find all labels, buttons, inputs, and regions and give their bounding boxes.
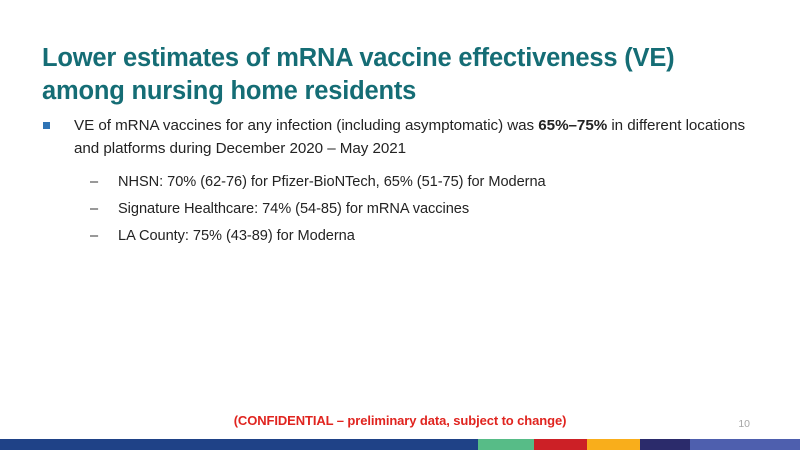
dash-bullet-icon: – (90, 223, 98, 250)
color-bar-segment-dark-blue (0, 439, 478, 450)
bullet-text-bold-range: 65%–75% (538, 117, 607, 134)
list-item: – NHSN: 70% (62-76) for Pfizer-BioNTech,… (40, 169, 760, 196)
sub-bullet-list: – NHSN: 70% (62-76) for Pfizer-BioNTech,… (40, 169, 760, 250)
color-bar-segment-orange (587, 439, 640, 450)
color-bar-segment-navy (640, 439, 690, 450)
slide: Lower estimates of mRNA vaccine effectiv… (0, 0, 800, 450)
sub-bullet-label-nhsn: NHSN: 70% (62-76) for Pfizer-BioNTech, 6… (118, 174, 546, 190)
sub-bullet-label-la-county: LA County: 75% (43-89) for Moderna (118, 228, 355, 244)
color-bar-segment-green (478, 439, 533, 450)
bullet-item-primary: VE of mRNA vaccines for any infection (i… (40, 114, 760, 160)
confidential-notice: (CONFIDENTIAL – preliminary data, subjec… (0, 413, 800, 428)
color-bar-segment-slate-blue (690, 439, 800, 450)
dash-bullet-icon: – (90, 169, 98, 196)
sub-bullet-label-signature-healthcare: Signature Healthcare: 74% (54-85) for mR… (118, 201, 469, 217)
bottom-color-bar (0, 439, 800, 450)
content-body: VE of mRNA vaccines for any infection (i… (40, 114, 760, 251)
square-bullet-icon (43, 122, 50, 129)
list-item: – Signature Healthcare: 74% (54-85) for … (40, 196, 760, 223)
dash-bullet-icon: – (90, 196, 98, 223)
page-title: Lower estimates of mRNA vaccine effectiv… (42, 42, 742, 107)
color-bar-segment-red (534, 439, 588, 450)
list-item: – LA County: 75% (43-89) for Moderna (40, 223, 760, 250)
title-line-1: Lower estimates of mRNA vaccine effectiv… (42, 42, 742, 75)
page-number: 10 (738, 418, 750, 430)
bullet-text-before-bold: VE of mRNA vaccines for any infection (i… (74, 117, 538, 134)
title-line-2: among nursing home residents (42, 75, 742, 108)
